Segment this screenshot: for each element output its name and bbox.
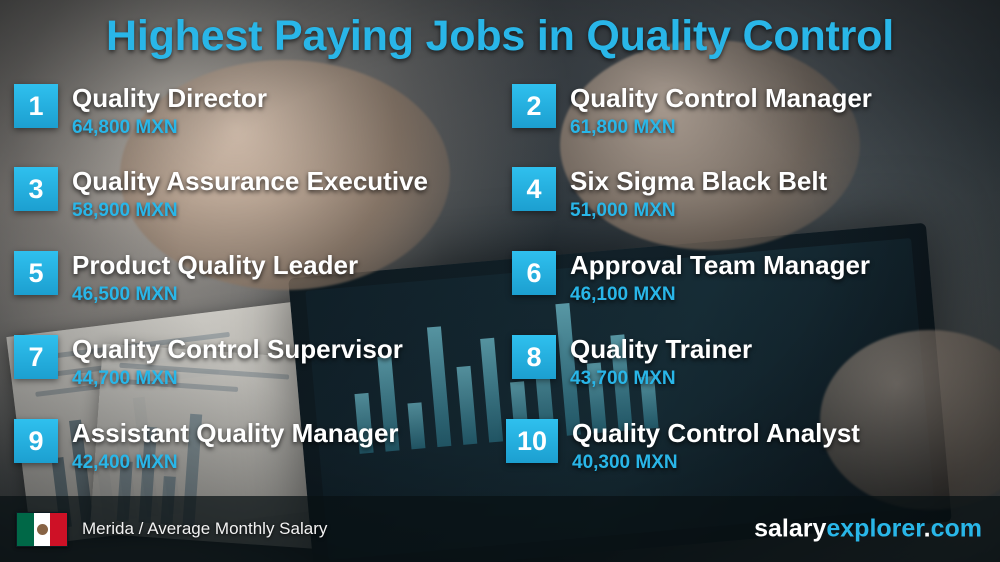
rank-badge: 10 [506,419,558,463]
rank-badge: 4 [512,167,556,211]
mexico-flag-icon [16,512,68,547]
job-title: Assistant Quality Manager [72,419,399,447]
job-salary: 46,500 MXN [72,284,358,306]
rank-badge: 3 [14,167,58,211]
list-item[interactable]: 7 Quality Control Supervisor 44,700 MXN [14,335,403,390]
brand-part-com: com [931,515,982,543]
job-salary: 44,700 MXN [72,368,403,390]
location-label: Merida / Average Monthly Salary [82,519,327,539]
job-salary: 40,300 MXN [572,452,860,474]
job-salary: 64,800 MXN [72,117,267,139]
list-item[interactable]: 5 Product Quality Leader 46,500 MXN [14,251,358,306]
list-item[interactable]: 3 Quality Assurance Executive 58,900 MXN [14,167,428,222]
rank-badge: 7 [14,335,58,379]
rank-badge: 1 [14,84,58,128]
job-salary: 61,800 MXN [570,117,872,139]
list-item[interactable]: 9 Assistant Quality Manager 42,400 MXN [14,419,399,474]
job-salary: 58,900 MXN [72,200,428,222]
job-salary: 51,000 MXN [570,200,827,222]
job-title: Approval Team Manager [570,251,870,279]
page-title: Highest Paying Jobs in Quality Control [106,12,894,61]
list-item[interactable]: 8 Quality Trainer 43,700 MXN [512,335,752,390]
rank-badge: 9 [14,419,58,463]
rank-badge: 2 [512,84,556,128]
list-item[interactable]: 6 Approval Team Manager 46,100 MXN [512,251,870,306]
job-title: Quality Control Analyst [572,419,860,447]
footer-bar: Merida / Average Monthly Salary salaryex… [0,496,1000,562]
rank-badge: 6 [512,251,556,295]
list-item[interactable]: 4 Six Sigma Black Belt 51,000 MXN [512,167,827,222]
job-title: Quality Control Manager [570,84,872,112]
infographic-canvas: Highest Paying Jobs in Quality Control 1… [0,0,1000,562]
brand-dot: . [924,515,931,543]
rank-badge: 8 [512,335,556,379]
brand-logo[interactable]: salaryexplorer.com [754,515,982,544]
job-title: Quality Trainer [570,335,752,363]
brand-part-explorer: explorer [826,515,923,543]
list-item[interactable]: 2 Quality Control Manager 61,800 MXN [512,84,872,139]
brand-part-salary: salary [754,515,826,543]
job-title: Quality Assurance Executive [72,167,428,195]
job-salary: 46,100 MXN [570,284,870,306]
list-item[interactable]: 1 Quality Director 64,800 MXN [14,84,267,139]
rank-badge: 5 [14,251,58,295]
jobs-list: 1 Quality Director 64,800 MXN 2 Quality … [0,78,1000,484]
title-bar: Highest Paying Jobs in Quality Control [0,0,1000,72]
job-salary: 42,400 MXN [72,452,399,474]
job-title: Product Quality Leader [72,251,358,279]
list-item[interactable]: 10 Quality Control Analyst 40,300 MXN [506,419,860,474]
job-title: Quality Director [72,84,267,112]
job-salary: 43,700 MXN [570,368,752,390]
job-title: Quality Control Supervisor [72,335,403,363]
job-title: Six Sigma Black Belt [570,167,827,195]
flag-emblem-icon [37,524,48,535]
